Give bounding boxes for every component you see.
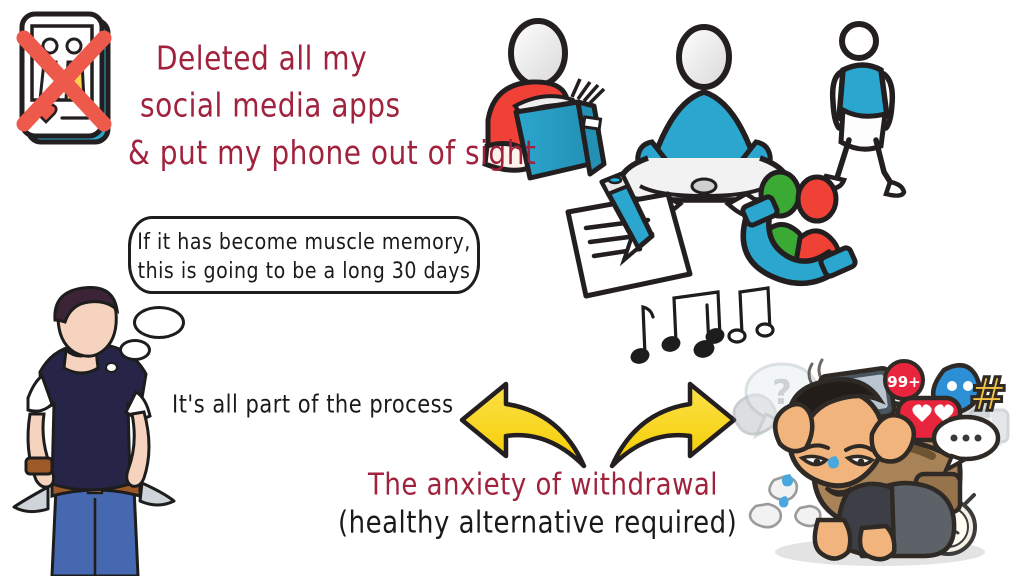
- walking-person-icon: [823, 24, 904, 196]
- anxiety-caption-line-1: The anxiety of withdrawal: [368, 467, 718, 502]
- phone-crossed-out-icon: [22, 14, 108, 142]
- thought-bubble-dot-small: [105, 362, 118, 373]
- notification-one-icon: 1: [970, 410, 1008, 456]
- crumpled-paper-icon: [750, 476, 820, 527]
- hashtag-icon: #: [969, 367, 1008, 421]
- headline-line-1: Deleted all my: [128, 35, 536, 82]
- thought-bubble: If it has become muscle memory, this is …: [128, 216, 480, 294]
- arrow-right: [612, 384, 734, 466]
- ghost-icon: [734, 395, 792, 434]
- thought-bubble-dot-medium: [119, 339, 151, 361]
- svg-text:1: 1: [981, 415, 996, 440]
- question-bubble-icon: ?: [746, 364, 818, 436]
- social-icons-in-backpack: 99+ #: [819, 361, 1007, 470]
- headline-line-2: social media apps: [128, 82, 536, 129]
- call-a-friend-icon: [741, 172, 856, 283]
- bell-icon: [936, 383, 998, 451]
- red-cross-icon: [24, 38, 104, 124]
- headline-line-3: & put my phone out of sight: [128, 130, 536, 177]
- thought-bubble-line-2: this is going to be a long 30 days: [131, 254, 477, 288]
- music-notes-icon: [631, 288, 773, 364]
- unread-badge-text: 99+: [887, 373, 920, 391]
- journaling-icon: [568, 174, 690, 296]
- thought-bubble-dot-large: [133, 306, 185, 339]
- process-caption: It's all part of the process: [172, 390, 454, 418]
- svg-text:?: ?: [772, 373, 792, 413]
- alarm-clock-icon: [921, 495, 975, 554]
- meditating-person-icon: [620, 27, 788, 216]
- deleted-apps-headline: Deleted all my social media apps & put m…: [128, 35, 536, 177]
- infographic-canvas: ? 1 9: [0, 0, 1024, 576]
- arrow-left: [462, 384, 584, 466]
- anxiety-caption-line-2: (healthy alternative required): [338, 505, 737, 540]
- overwhelmed-man: ? 1 9: [734, 360, 1008, 566]
